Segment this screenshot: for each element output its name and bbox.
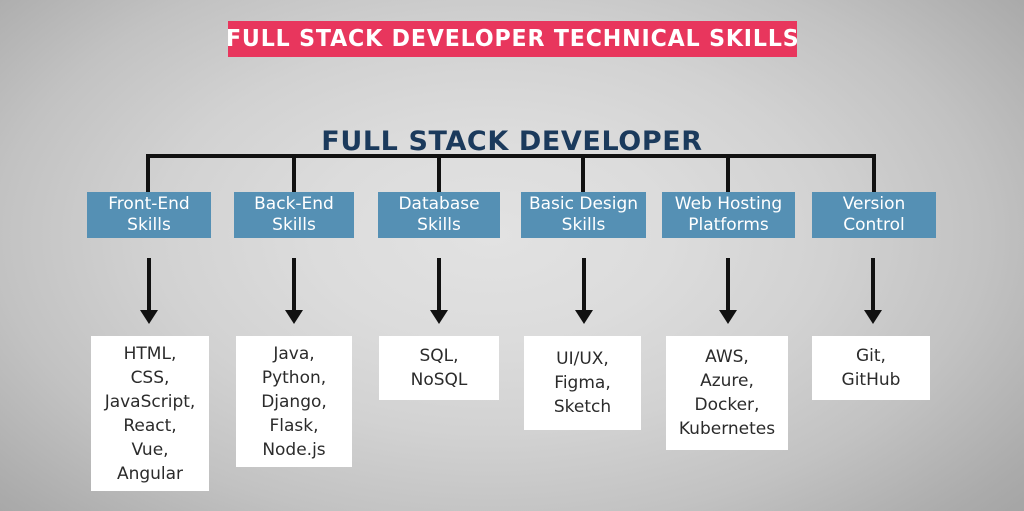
arrow-version-control (871, 258, 875, 311)
skill-list-version-control: Git, GitHub (842, 344, 901, 392)
skill-box-basic-design[interactable]: UI/UX, Figma, Sketch (524, 336, 641, 430)
category-box-database[interactable]: Database Skills (378, 192, 500, 238)
skill-list-web-hosting: AWS, Azure, Docker, Kubernetes (679, 345, 775, 441)
skill-list-front-end: HTML, CSS, JavaScript, React, Vue, Angul… (105, 342, 196, 486)
skill-box-web-hosting[interactable]: AWS, Azure, Docker, Kubernetes (666, 336, 788, 450)
connector-drop-back-end (292, 154, 296, 193)
category-box-front-end[interactable]: Front-End Skills (87, 192, 211, 238)
arrow-web-hosting (726, 258, 730, 311)
skill-list-basic-design: UI/UX, Figma, Sketch (554, 347, 611, 419)
arrow-front-end (147, 258, 151, 311)
category-box-back-end[interactable]: Back-End Skills (234, 192, 354, 238)
connector-horizontal-bus (148, 154, 876, 158)
category-label-front-end: Front-End Skills (108, 194, 189, 236)
root-node-label: FULL STACK DEVELOPER (0, 126, 1024, 157)
category-box-web-hosting[interactable]: Web Hosting Platforms (662, 192, 795, 238)
category-label-basic-design: Basic Design Skills (529, 194, 638, 236)
title-banner: FULL STACK DEVELOPER TECHNICAL SKILLS (228, 21, 797, 57)
connector-drop-version-control (872, 154, 876, 193)
category-label-back-end: Back-End Skills (254, 194, 334, 236)
connector-drop-database (437, 154, 441, 193)
category-box-basic-design[interactable]: Basic Design Skills (521, 192, 646, 238)
skill-list-back-end: Java, Python, Django, Flask, Node.js (261, 342, 327, 462)
connector-drop-basic-design (581, 154, 585, 193)
skill-list-database: SQL, NoSQL (411, 344, 468, 392)
category-label-version-control: Version Control (843, 194, 906, 236)
skill-box-version-control[interactable]: Git, GitHub (812, 336, 930, 400)
skill-box-front-end[interactable]: HTML, CSS, JavaScript, React, Vue, Angul… (91, 336, 209, 491)
title-banner-text: FULL STACK DEVELOPER TECHNICAL SKILLS (226, 26, 800, 52)
connector-drop-web-hosting (726, 154, 730, 193)
arrow-basic-design (582, 258, 586, 311)
connector-drop-front-end (146, 154, 150, 193)
category-label-database: Database Skills (398, 194, 479, 236)
diagram-canvas: FULL STACK DEVELOPER TECHNICAL SKILLS FU… (0, 0, 1024, 511)
arrow-back-end (292, 258, 296, 311)
skill-box-back-end[interactable]: Java, Python, Django, Flask, Node.js (236, 336, 352, 467)
category-label-web-hosting: Web Hosting Platforms (675, 194, 782, 236)
arrow-database (437, 258, 441, 311)
category-box-version-control[interactable]: Version Control (812, 192, 936, 238)
skill-box-database[interactable]: SQL, NoSQL (379, 336, 499, 400)
